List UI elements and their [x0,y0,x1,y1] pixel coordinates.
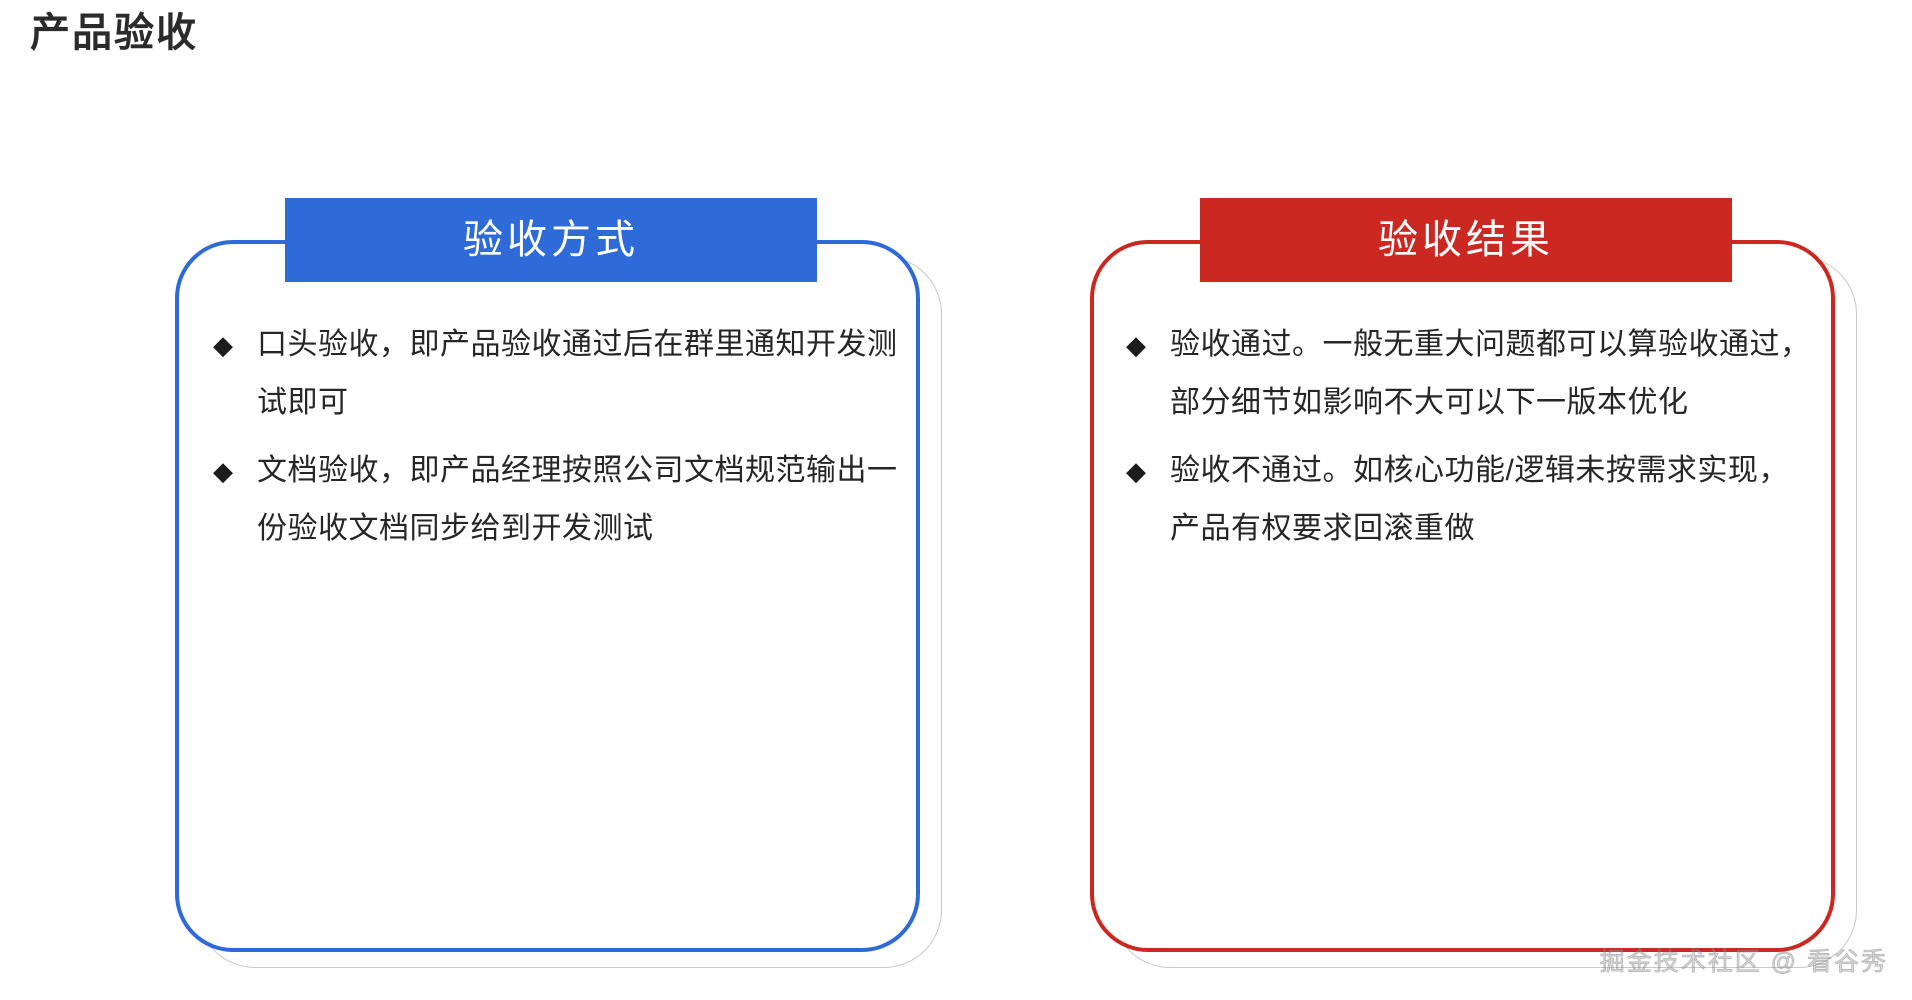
list-item: ◆ 口头验收，即产品验收通过后在群里通知开发测试即可 [209,316,909,432]
card-body: ◆ 口头验收，即产品验收通过后在群里通知开发测试即可 ◆ 文档验收，即产品经理按… [209,316,909,568]
list-item-text: 验收不通过。如核心功能/逻辑未按需求实现，产品有权要求回滚重做 [1170,442,1812,558]
diamond-bullet-icon: ◆ [209,316,257,374]
slide-canvas: 产品验收 ◆ 口头验收，即产品验收通过后在群里通知开发测试即可 ◆ 文档验收，即… [0,0,1912,1000]
card-header-banner: 验收方式 [285,198,817,282]
card-header-title: 验收结果 [1378,220,1554,260]
card-acceptance-result: ◆ 验收通过。一般无重大问题都可以算验收通过，部分细节如影响不大可以下一版本优化… [1090,240,1870,970]
card-outline: ◆ 验收通过。一般无重大问题都可以算验收通过，部分细节如影响不大可以下一版本优化… [1090,240,1835,952]
card-header-banner: 验收结果 [1200,198,1732,282]
list-item-text: 验收通过。一般无重大问题都可以算验收通过，部分细节如影响不大可以下一版本优化 [1170,316,1812,432]
list-item: ◆ 验收不通过。如核心功能/逻辑未按需求实现，产品有权要求回滚重做 [1122,442,1812,558]
card-acceptance-method: ◆ 口头验收，即产品验收通过后在群里通知开发测试即可 ◆ 文档验收，即产品经理按… [175,240,955,970]
page-title: 产品验收 [30,8,198,58]
card-body: ◆ 验收通过。一般无重大问题都可以算验收通过，部分细节如影响不大可以下一版本优化… [1122,316,1812,568]
list-item-text: 文档验收，即产品经理按照公司文档规范输出一份验收文档同步给到开发测试 [257,442,909,558]
card-header-title: 验收方式 [463,220,639,260]
card-outline: ◆ 口头验收，即产品验收通过后在群里通知开发测试即可 ◆ 文档验收，即产品经理按… [175,240,920,952]
list-item-text: 口头验收，即产品验收通过后在群里通知开发测试即可 [257,316,909,432]
diamond-bullet-icon: ◆ [1122,316,1170,374]
diamond-bullet-icon: ◆ [1122,442,1170,500]
list-item: ◆ 文档验收，即产品经理按照公司文档规范输出一份验收文档同步给到开发测试 [209,442,909,558]
list-item: ◆ 验收通过。一般无重大问题都可以算验收通过，部分细节如影响不大可以下一版本优化 [1122,316,1812,432]
diamond-bullet-icon: ◆ [209,442,257,500]
